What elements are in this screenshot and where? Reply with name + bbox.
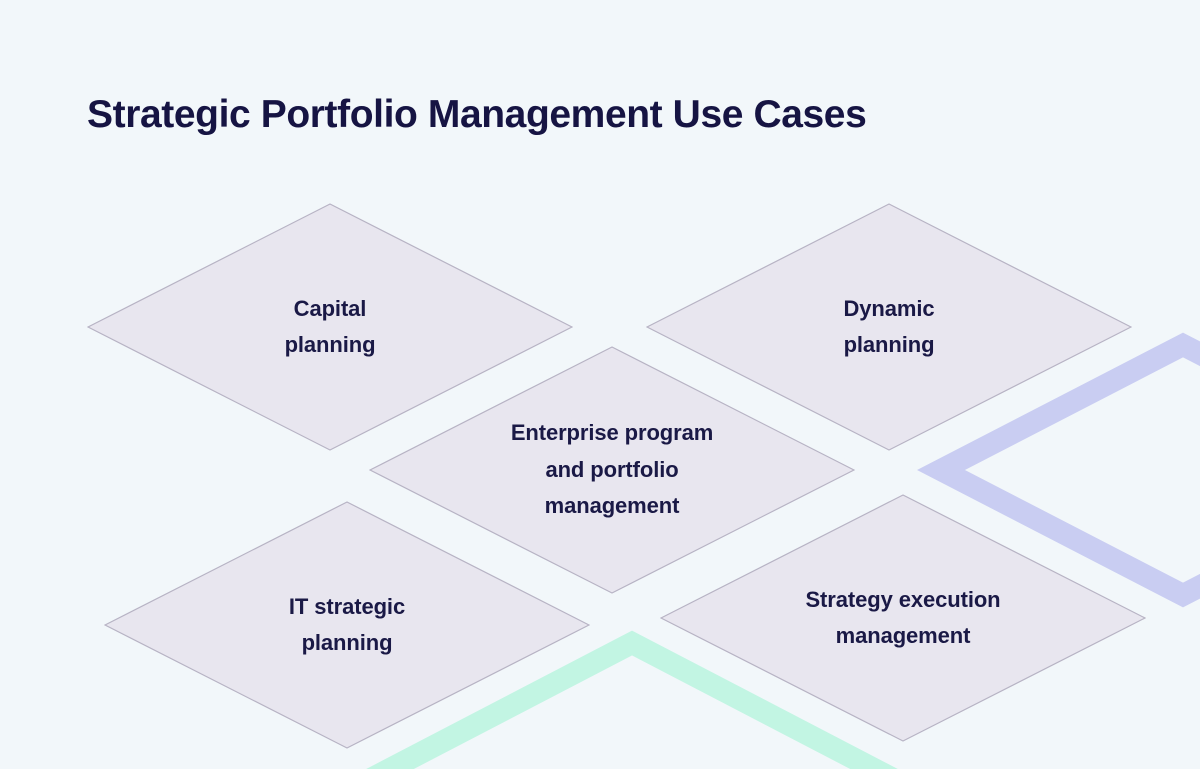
diamond-label-line: planning [302, 625, 393, 662]
diamond-label-line: management [545, 488, 680, 525]
diamond-label-line: Dynamic [843, 291, 934, 328]
diamond-label-line: management [836, 618, 971, 655]
diamond-label-line: planning [844, 327, 935, 364]
diamond-enterprise-program-and-portfolio-management[interactable]: Enterprise program and portfolio managem… [369, 346, 855, 594]
diamond-label-line: planning [285, 327, 376, 364]
diamond-label-line: Enterprise program [511, 415, 713, 452]
diamond-label: Enterprise program and portfolio managem… [369, 346, 855, 594]
page-title: Strategic Portfolio Management Use Cases [87, 93, 866, 137]
diamond-label-line: and portfolio [545, 452, 678, 489]
diamond-label-line: Capital [294, 291, 367, 328]
infographic-canvas: Strategic Portfolio Management Use Cases… [0, 0, 1200, 769]
